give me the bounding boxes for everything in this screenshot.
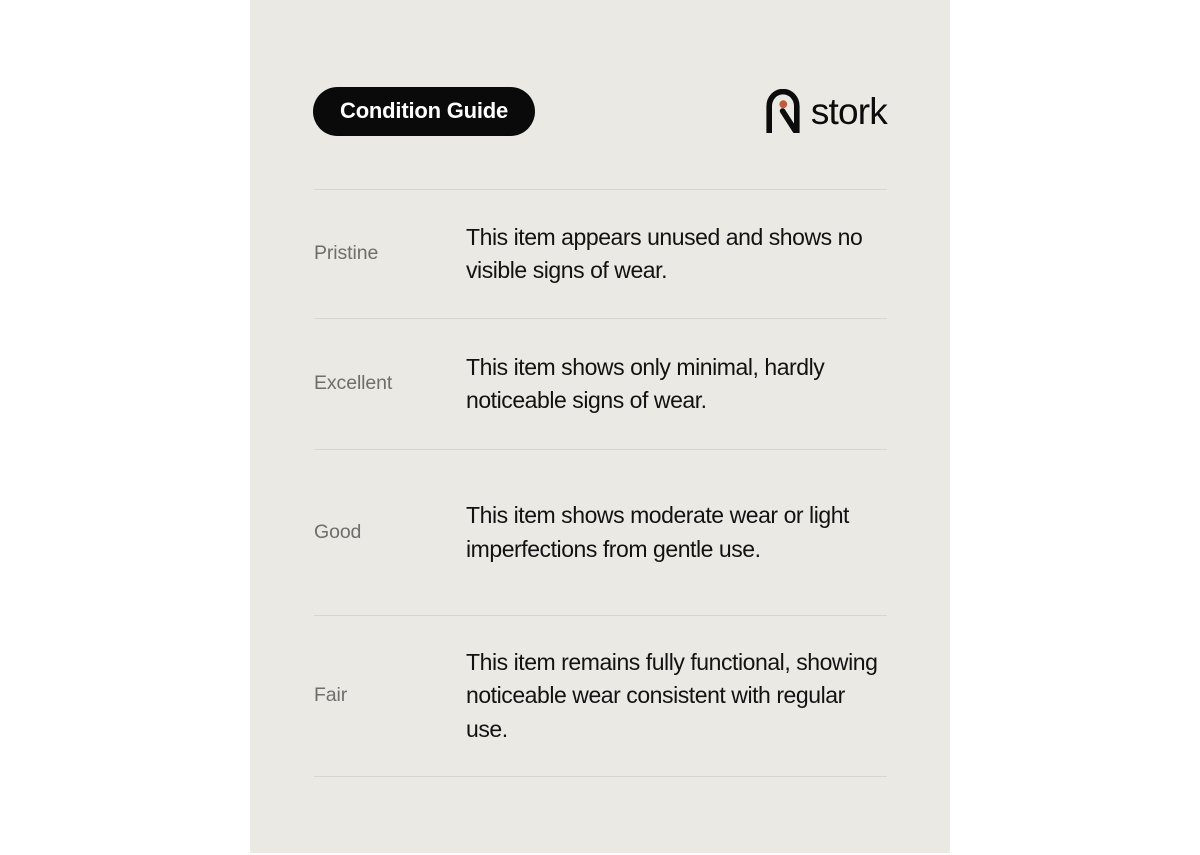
condition-label: Good — [314, 521, 466, 544]
table-divider-bottom — [314, 776, 887, 777]
condition-guide-card: Condition Guide stork P — [250, 0, 950, 853]
condition-description: This item shows moderate wear or light i… — [466, 499, 887, 566]
condition-guide-table: Pristine This item appears unused and sh… — [314, 189, 887, 777]
table-row: Pristine This item appears unused and sh… — [314, 190, 887, 318]
table-row: Fair This item remains fully functional,… — [314, 616, 887, 776]
page-root: Condition Guide stork P — [0, 0, 1200, 855]
condition-label: Pristine — [314, 242, 466, 265]
stork-arch-logo-icon — [766, 89, 800, 133]
condition-guide-badge[interactable]: Condition Guide — [313, 87, 535, 136]
brand-wordmark: stork — [811, 93, 887, 130]
condition-description: This item shows only minimal, hardly not… — [466, 351, 887, 418]
card-header: Condition Guide stork — [313, 86, 887, 136]
condition-label: Fair — [314, 684, 466, 707]
condition-description: This item appears unused and shows no vi… — [466, 221, 887, 288]
table-row: Excellent This item shows only minimal, … — [314, 319, 887, 449]
brand-lockup: stork — [766, 86, 887, 136]
condition-label: Excellent — [314, 372, 466, 395]
table-row: Good This item shows moderate wear or li… — [314, 450, 887, 615]
condition-description: This item remains fully functional, show… — [466, 646, 887, 746]
